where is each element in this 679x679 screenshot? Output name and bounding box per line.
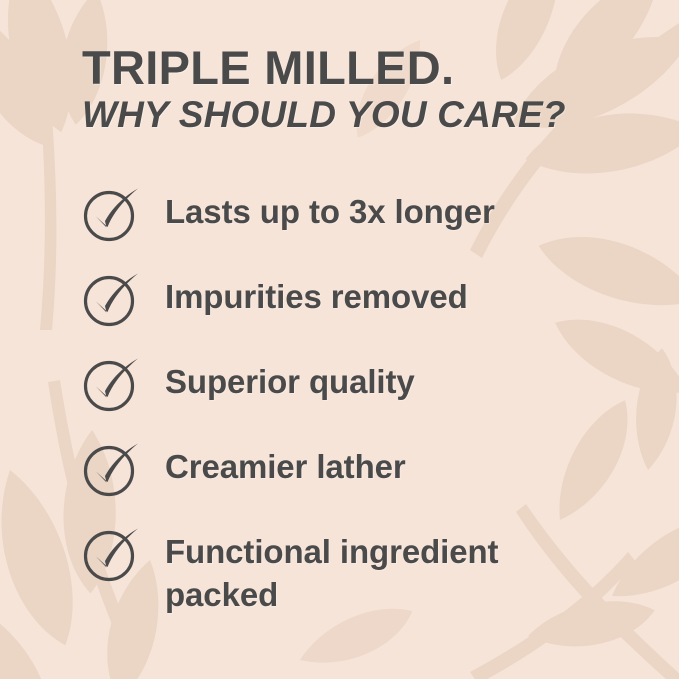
list-item-label: Lasts up to 3x longer xyxy=(165,184,495,234)
list-item-label: Impurities removed xyxy=(165,269,468,319)
list-item-label: Functional ingredient packed xyxy=(165,524,595,617)
page-subtitle: WHY SHOULD YOU CARE? xyxy=(82,95,639,136)
check-circle-icon xyxy=(82,271,144,329)
check-circle-icon xyxy=(82,526,144,584)
list-item-label: Creamier lather xyxy=(165,439,406,489)
triple-milled-benefits-poster: TRIPLE MILLED. WHY SHOULD YOU CARE? Last… xyxy=(0,0,679,679)
list-item: Lasts up to 3x longer xyxy=(82,184,639,269)
benefits-list: Lasts up to 3x longer Impurities removed xyxy=(82,184,639,609)
list-item-label: Superior quality xyxy=(165,354,415,404)
list-item: Creamier lather xyxy=(82,439,639,524)
poster-content: TRIPLE MILLED. WHY SHOULD YOU CARE? Last… xyxy=(0,0,679,609)
check-circle-icon xyxy=(82,441,144,499)
list-item: Impurities removed xyxy=(82,269,639,354)
check-circle-icon xyxy=(82,356,144,414)
list-item: Superior quality xyxy=(82,354,639,439)
list-item: Functional ingredient packed xyxy=(82,524,639,609)
check-circle-icon xyxy=(82,186,144,244)
page-title: TRIPLE MILLED. xyxy=(82,44,639,93)
